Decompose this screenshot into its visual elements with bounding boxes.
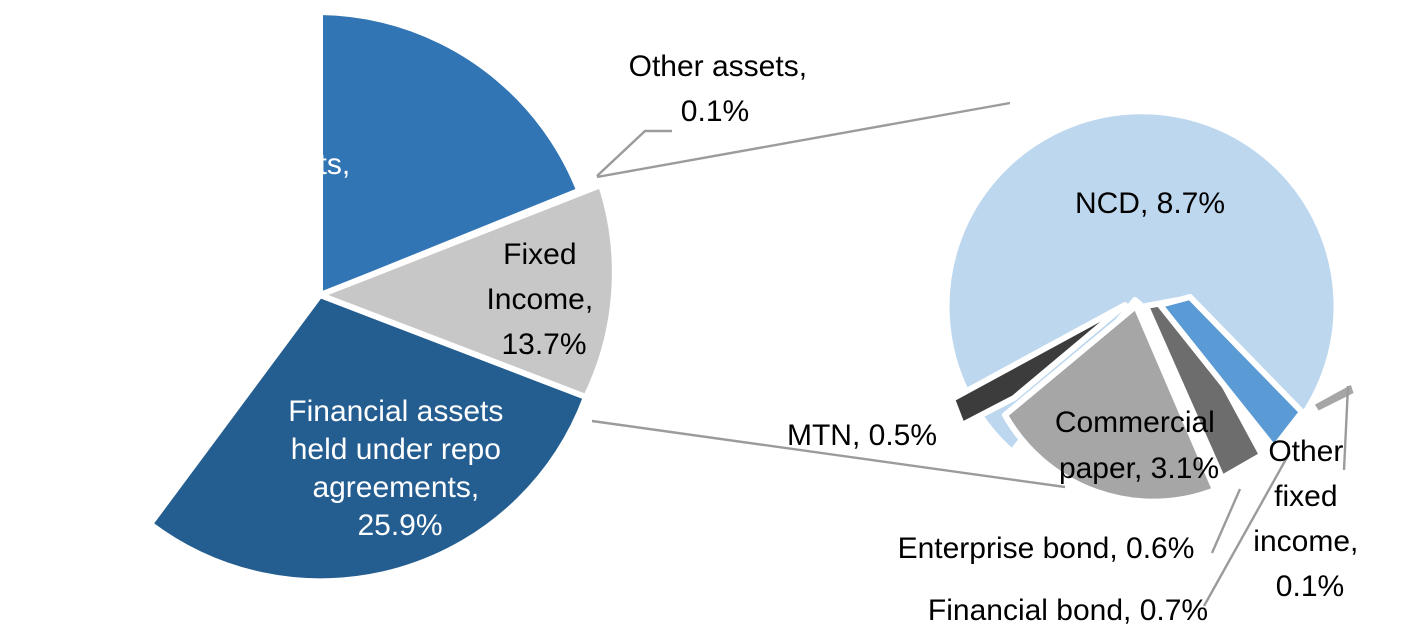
leader-fixed-income-top — [597, 103, 1010, 177]
label-enterprise-bond: Enterprise bond, 0.6% — [898, 532, 1195, 565]
label-financial-bond: Financial bond, 0.7% — [928, 594, 1208, 627]
label-other-fixed-income: Other fixed income, 0.1% — [1253, 435, 1366, 603]
label-ncd: NCD, 8.7% — [1075, 187, 1225, 220]
pie-chart-canvas: Bank deposits, 60.3% Financial assets he… — [0, 0, 1404, 644]
pie-chart-figure: Bank deposits, 60.3% Financial assets he… — [0, 0, 1404, 644]
label-fixed-income: Fixed Income, 13.7% — [486, 238, 601, 361]
label-other-assets: Other assets, 0.1% — [629, 50, 816, 128]
leader-enterprise-bond — [1212, 489, 1240, 553]
label-mtn: MTN, 0.5% — [787, 419, 937, 452]
